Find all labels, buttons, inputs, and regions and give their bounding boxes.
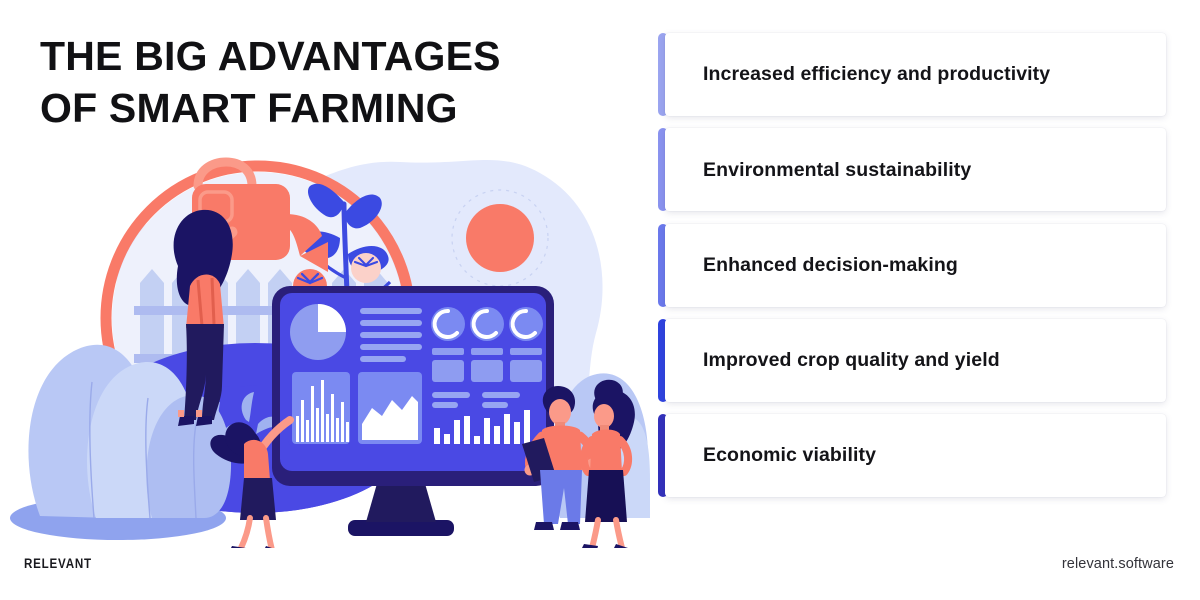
pie-chart bbox=[290, 304, 346, 360]
ring-gauge bbox=[470, 307, 504, 341]
brand-logo: RELEVANT bbox=[24, 556, 92, 571]
benefit-label: Increased efficiency and productivity bbox=[703, 61, 1050, 87]
list-item[interactable]: Environmental sustainability bbox=[658, 128, 1166, 211]
benefit-label: Economic viability bbox=[703, 442, 876, 468]
benefit-card[interactable]: Enhanced decision-making bbox=[665, 224, 1166, 307]
benefit-card[interactable]: Environmental sustainability bbox=[665, 128, 1166, 211]
coral-sun-circle bbox=[466, 204, 534, 272]
stat-card bbox=[432, 348, 542, 382]
list-item[interactable]: Increased efficiency and productivity bbox=[658, 33, 1166, 116]
list-item[interactable]: Improved crop quality and yield bbox=[658, 319, 1166, 402]
page-title: THE BIG ADVANTAGES OF SMART FARMING bbox=[40, 30, 620, 135]
list-item[interactable]: Economic viability bbox=[658, 414, 1166, 497]
bar-chart bbox=[292, 372, 350, 444]
area-chart bbox=[358, 372, 422, 444]
benefit-label: Improved crop quality and yield bbox=[703, 347, 1000, 373]
benefit-card[interactable]: Improved crop quality and yield bbox=[665, 319, 1166, 402]
smart-farming-illustration bbox=[0, 128, 650, 548]
benefit-label: Enhanced decision-making bbox=[703, 252, 958, 278]
website-url[interactable]: relevant.software bbox=[1062, 556, 1174, 572]
benefit-label: Environmental sustainability bbox=[703, 157, 971, 183]
list-item[interactable]: Enhanced decision-making bbox=[658, 224, 1166, 307]
benefits-list: Increased efficiency and productivity En… bbox=[658, 33, 1166, 497]
benefit-card[interactable]: Increased efficiency and productivity bbox=[665, 33, 1166, 116]
page-title-line-1: THE BIG ADVANTAGES bbox=[40, 30, 620, 82]
ring-gauge bbox=[431, 307, 465, 341]
benefit-card[interactable]: Economic viability bbox=[665, 414, 1166, 497]
ring-gauge bbox=[509, 307, 543, 341]
tomato bbox=[351, 253, 381, 283]
